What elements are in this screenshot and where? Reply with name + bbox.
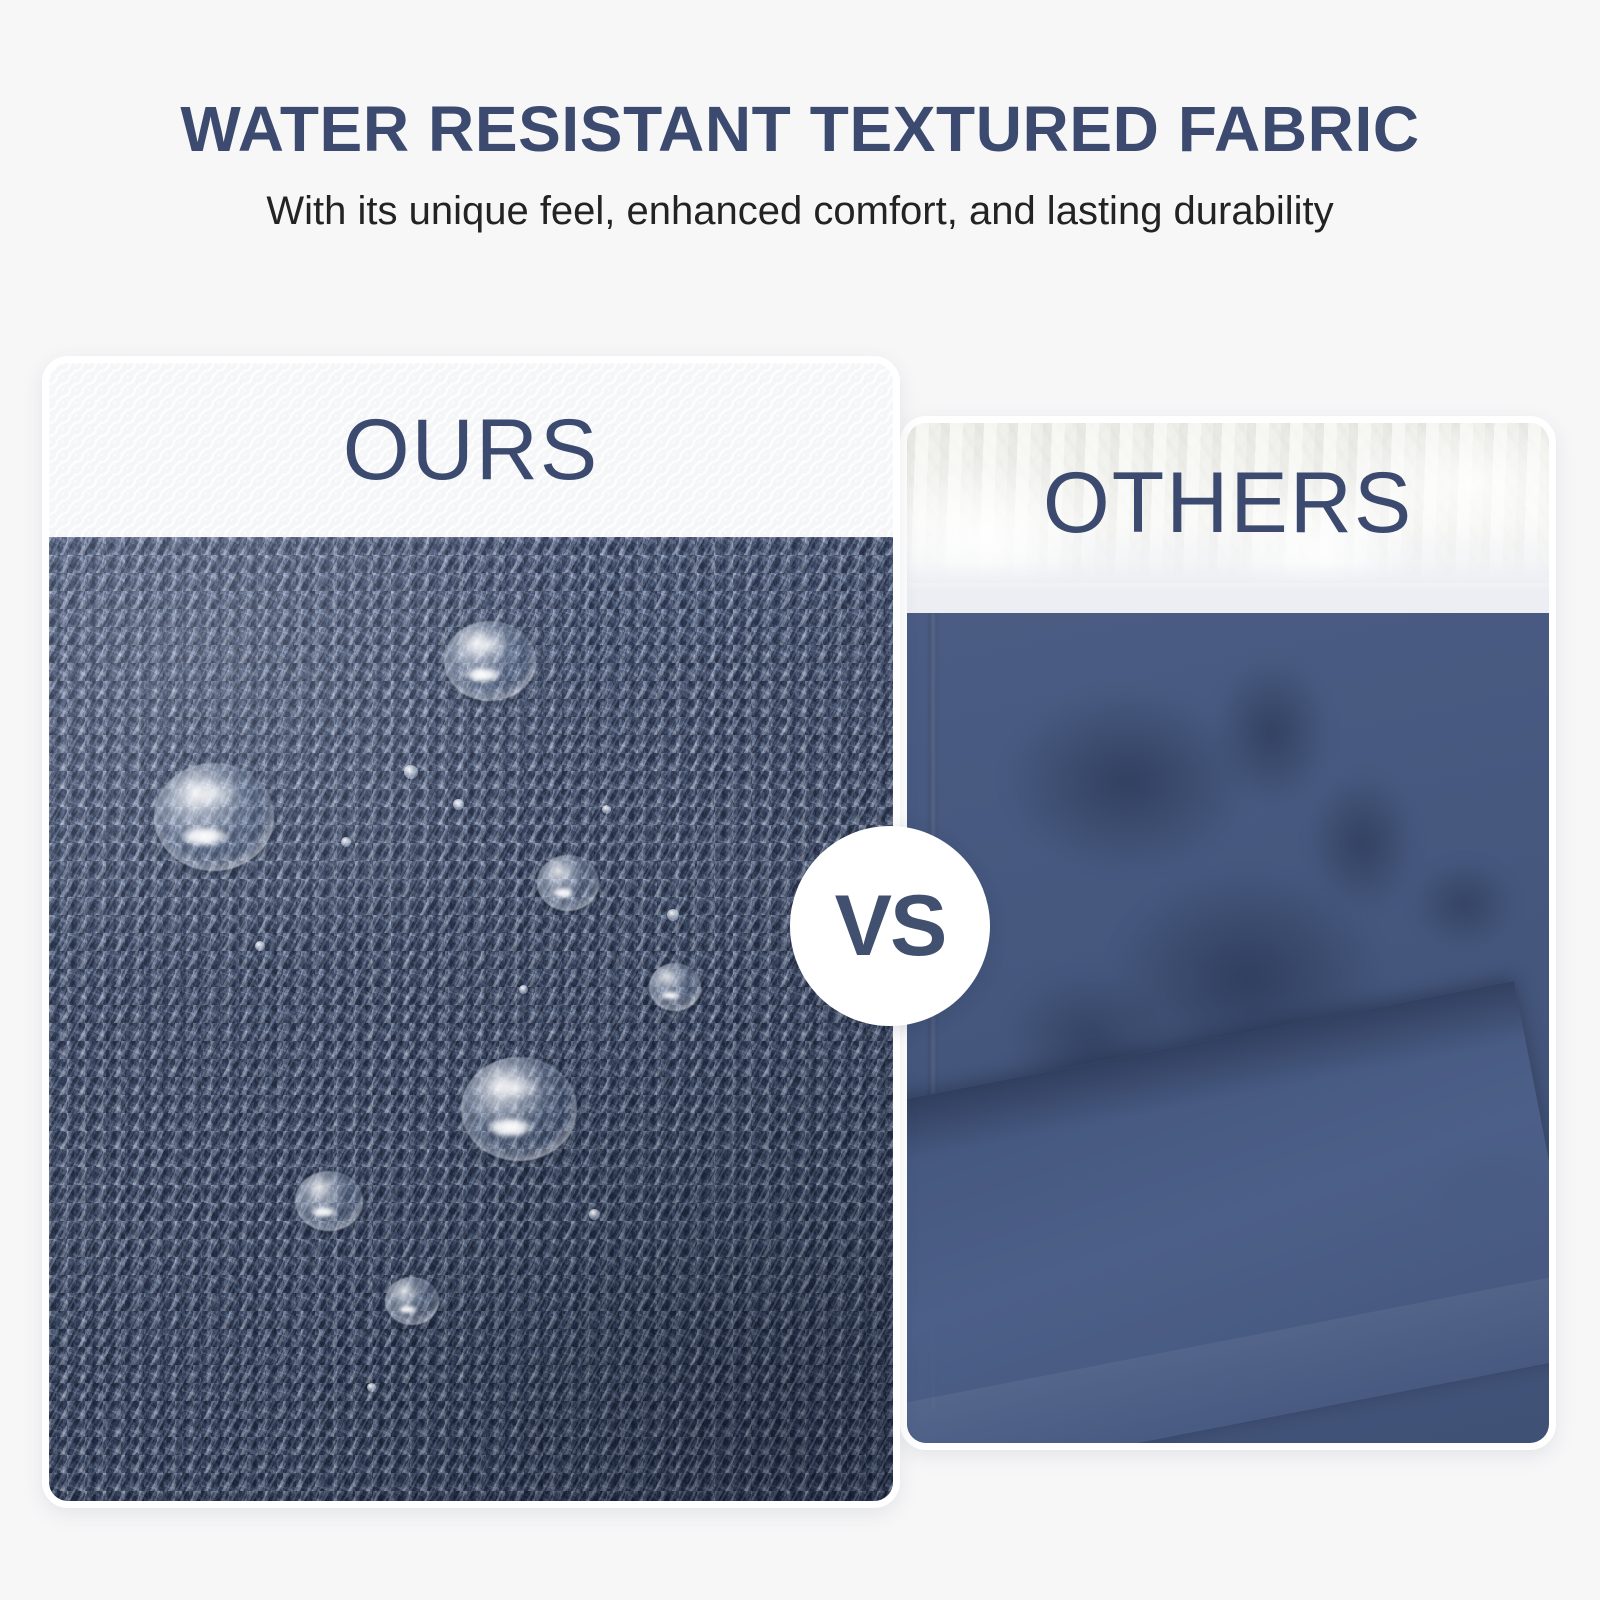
water-droplet [444, 621, 536, 701]
water-droplet [295, 1171, 363, 1231]
droplet-highlight [487, 1117, 533, 1138]
ours-label: OURS [49, 363, 893, 537]
droplet-highlight [551, 887, 576, 898]
others-fabric-texture [907, 613, 1549, 1443]
water-microdroplet [341, 837, 351, 847]
droplet-highlight [660, 991, 681, 1001]
water-microdroplet [367, 1383, 376, 1392]
droplet-highlight [397, 1305, 419, 1315]
fabric-fold-lower [907, 1273, 1549, 1443]
others-panel-image: OTHERS [907, 423, 1549, 1443]
water-microdroplet [453, 799, 464, 810]
water-microdroplet [255, 941, 265, 951]
fabric-shading [49, 537, 893, 1501]
water-microdroplet [519, 985, 528, 994]
droplet-highlight [180, 826, 228, 848]
others-panel: OTHERS [900, 416, 1556, 1450]
comparison-stage: OTHERS [0, 0, 1600, 1600]
water-microdroplet [589, 1209, 600, 1220]
fabric-fold [907, 981, 1549, 1443]
ours-panel: OURS [42, 356, 900, 1508]
water-droplet [649, 963, 701, 1011]
droplet-highlight-top [183, 780, 238, 808]
water-droplet [537, 855, 599, 911]
others-label: OTHERS [907, 423, 1549, 583]
water-microdroplet [667, 909, 679, 921]
vs-label: VS [835, 883, 946, 969]
droplet-highlight [310, 1206, 337, 1218]
ours-fabric-texture [49, 537, 893, 1501]
water-microdroplet [404, 765, 418, 779]
water-droplet [385, 1277, 439, 1325]
vs-badge: VS [790, 826, 990, 1026]
water-droplet [461, 1057, 577, 1161]
water-droplet [154, 763, 274, 871]
droplet-highlight-top [489, 1074, 542, 1101]
ours-panel-image: OURS [49, 363, 893, 1501]
droplet-highlight [464, 667, 501, 683]
water-microdroplet [602, 805, 611, 814]
droplet-highlight-top [466, 634, 508, 655]
